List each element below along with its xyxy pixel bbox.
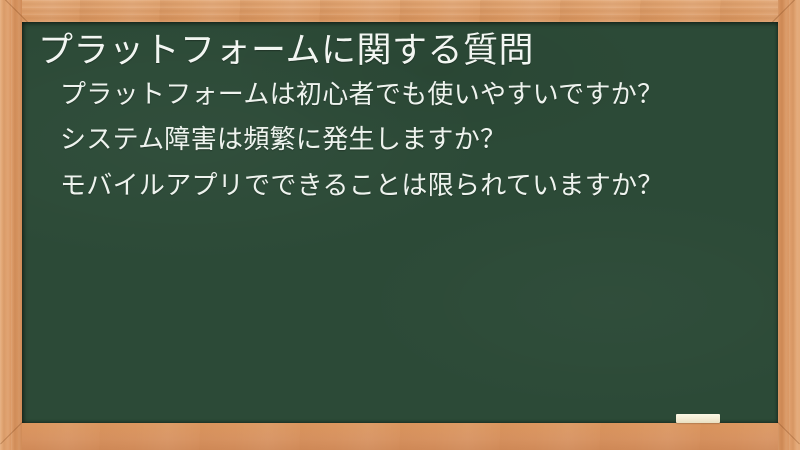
list-item: モバイルアプリでできることは限られていますか？ [60, 170, 750, 204]
chalkboard-slide: プラットフォームに関する質問 プラットフォームは初心者でも使いやすいですか？ シ… [0, 0, 800, 450]
chalk-stick-icon [676, 414, 720, 423]
frame-rail-left [0, 0, 22, 450]
frame-rail-bottom-ledge [0, 423, 800, 450]
question-list: プラットフォームは初心者でも使いやすいですか？ システム障害は頻繁に発生しますか… [32, 79, 752, 204]
list-item: プラットフォームは初心者でも使いやすいですか？ [60, 79, 750, 113]
chalkboard-surface: プラットフォームに関する質問 プラットフォームは初心者でも使いやすいですか？ シ… [22, 22, 778, 423]
frame-rail-top [0, 0, 800, 22]
chalkboard-content: プラットフォームに関する質問 プラットフォームは初心者でも使いやすいですか？ シ… [22, 22, 778, 423]
frame-rail-right [778, 0, 800, 450]
list-item: システム障害は頻繁に発生しますか？ [60, 124, 750, 158]
slide-title: プラットフォームに関する質問 [32, 30, 752, 73]
